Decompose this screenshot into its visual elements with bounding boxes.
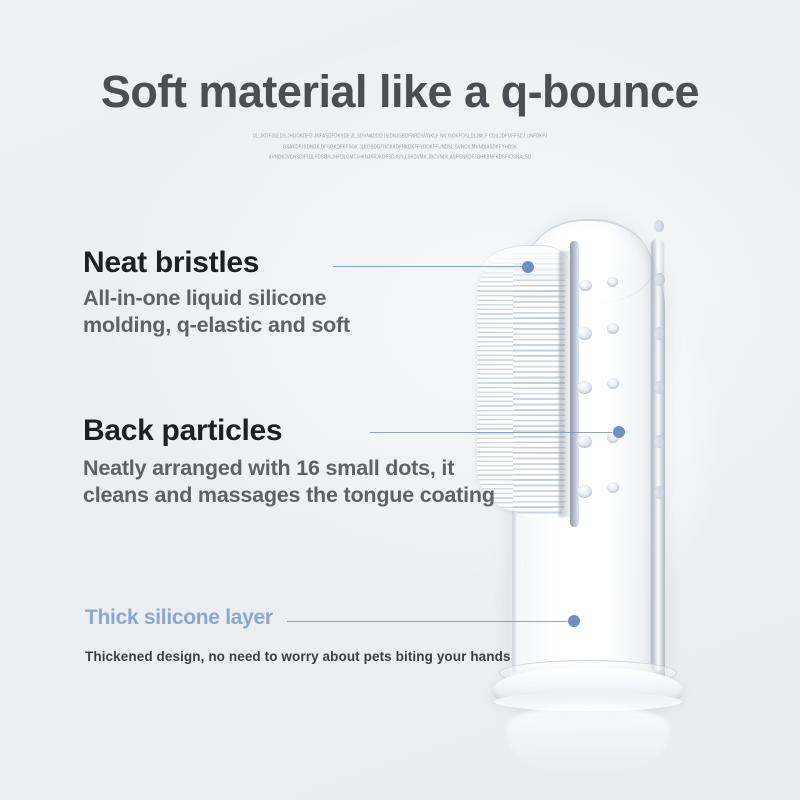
side-dot [654, 273, 665, 286]
side-dot [654, 220, 664, 232]
subtitle-placeholder-text: OL,JKDFJGLDS,JHGOKDFG-JNFASDFDKSDF JL,SD… [0, 131, 800, 163]
massage-dot [607, 323, 619, 334]
surface-reflection [507, 705, 669, 777]
massage-dot [607, 482, 619, 493]
massage-dot [579, 280, 592, 291]
callout-body-neat-bristles: All-in-one liquid silicone molding, q-el… [83, 285, 350, 339]
side-dot [654, 327, 665, 340]
leader-dot-layer [568, 615, 580, 627]
massage-dot [607, 277, 618, 287]
callout-heading-back-particles: Back particles [83, 414, 495, 448]
callout-body-thick-silicone-layer: Thickened design, no need to worry about… [85, 648, 511, 666]
product-image [455, 205, 755, 765]
leader-line-bristles [333, 266, 529, 267]
massage-dot [577, 435, 592, 448]
leader-dot-bristles [522, 261, 534, 273]
callout-thick-silicone-layer: Thick silicone layer Thickened design, n… [85, 606, 511, 666]
side-dot [654, 435, 665, 448]
massage-dot [607, 378, 619, 389]
callout-heading-thick-silicone-layer: Thick silicone layer [85, 606, 511, 630]
page-title: Soft material like a q-bounce [0, 66, 800, 118]
leader-dot-particles [613, 426, 625, 438]
callout-heading-neat-bristles: Neat bristles [83, 246, 350, 280]
sleeve-right-edge-highlight [651, 239, 664, 671]
product-banner: Soft material like a q-bounce OL,JKDFJGL… [0, 0, 800, 800]
massage-dot [577, 327, 592, 340]
side-dot [654, 381, 665, 394]
callout-neat-bristles: Neat bristles All-in-one liquid silicone… [83, 246, 350, 339]
callout-body-back-particles: Neatly arranged with 16 small dots, it c… [83, 455, 495, 509]
massage-dot [577, 485, 592, 498]
massage-dot [577, 381, 592, 394]
callout-back-particles: Back particles Neatly arranged with 16 s… [83, 414, 495, 509]
bristle-inner-rank [513, 249, 565, 517]
side-dot [654, 486, 665, 499]
